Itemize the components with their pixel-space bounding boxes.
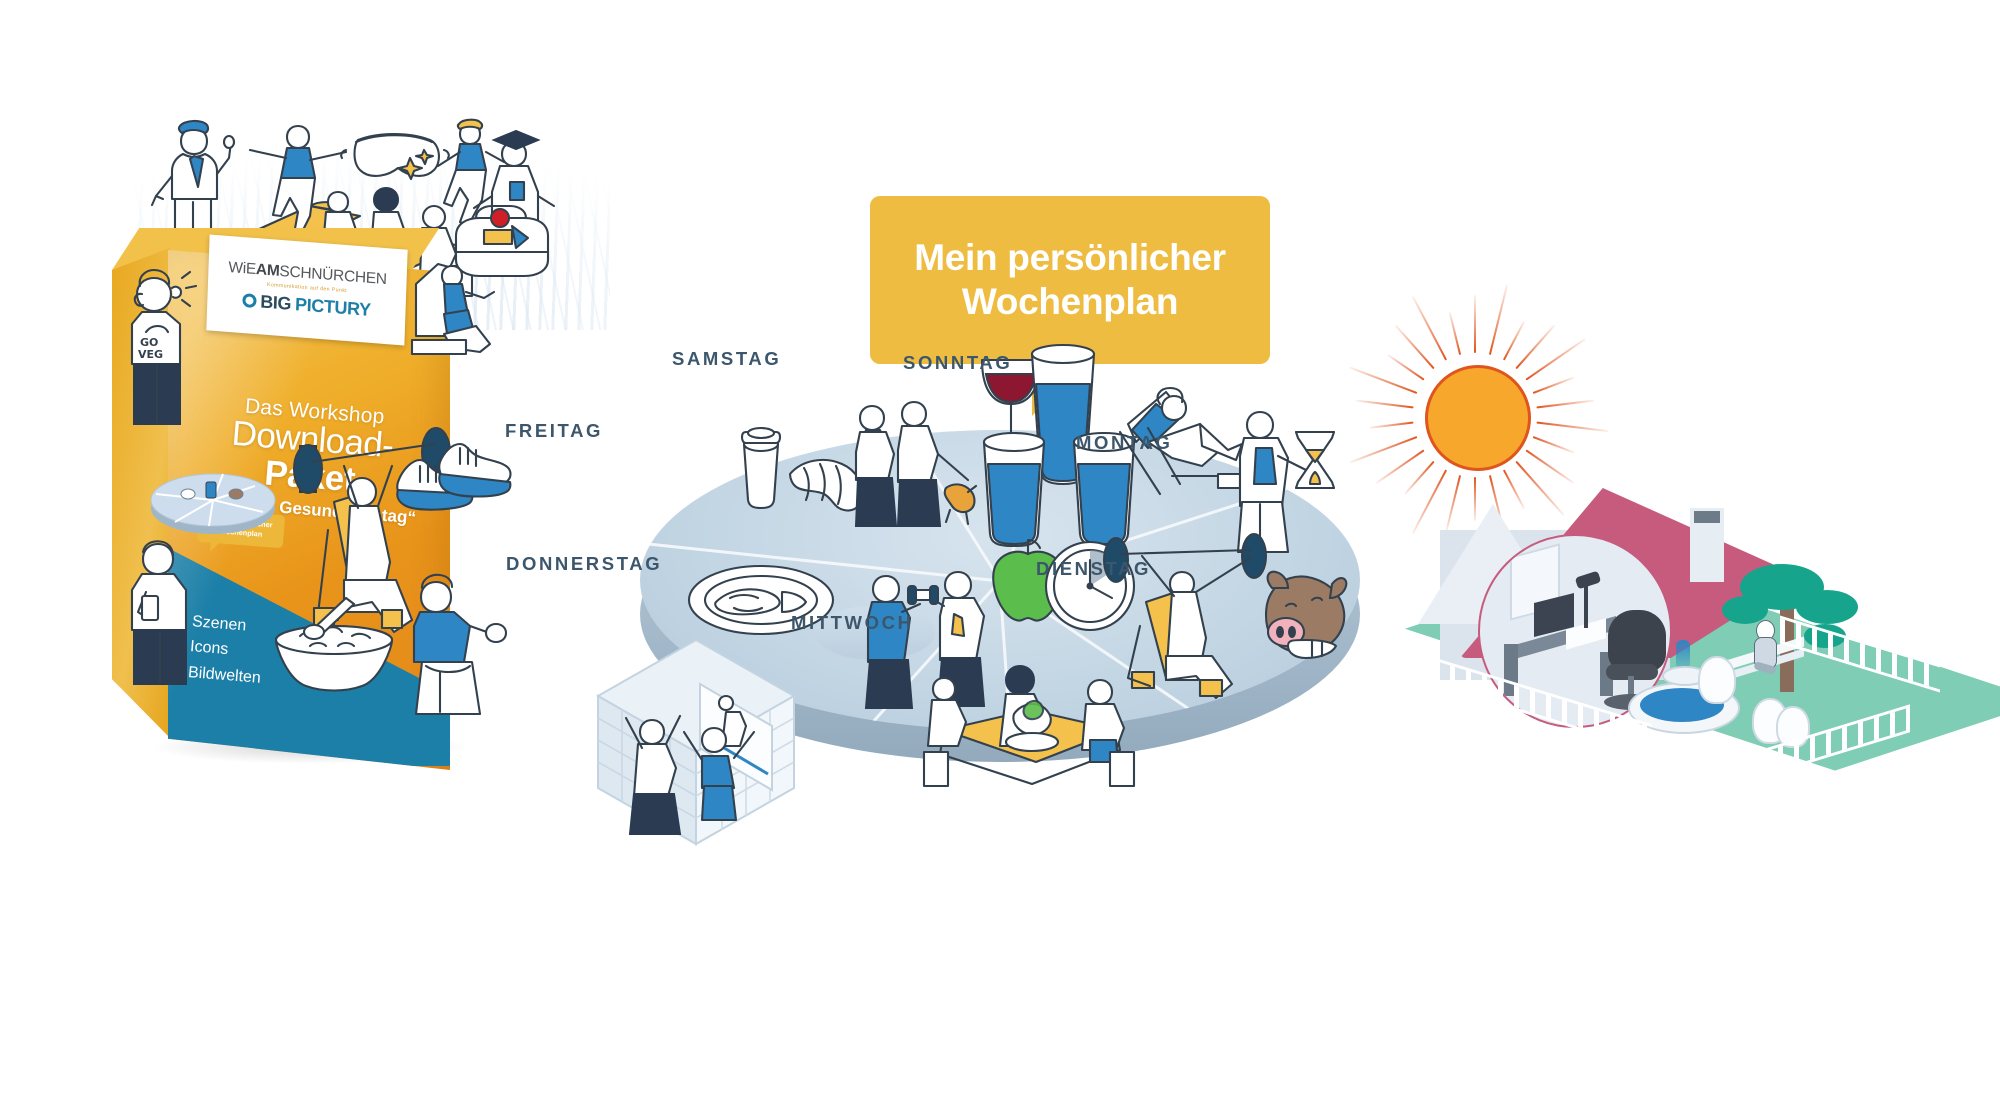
grocery-person-icon — [396, 562, 526, 722]
bush-icon — [1698, 656, 1736, 704]
svg-text:VEG: VEG — [138, 348, 163, 361]
cereal-bowl-icon — [266, 596, 406, 696]
family-dinner-table-icon — [920, 648, 1140, 798]
phone-person-icon — [116, 530, 206, 690]
desk-lamp-arm — [1584, 582, 1588, 628]
canvas: WiEAMSCHNÜRCHEN Kommunikation auf den Pu… — [0, 0, 2000, 1105]
office-stretching-icon — [592, 588, 822, 818]
piggy-head-icon — [1252, 570, 1362, 670]
day-label-sonntag: SONNTAG — [903, 352, 1012, 374]
office-chair-back — [1608, 610, 1666, 672]
day-label-mittwoch: MITTWOCH — [791, 612, 914, 634]
speech-line-1: Mein persönlicher — [914, 236, 1226, 280]
tree-crown — [1796, 590, 1858, 624]
sneakers-icon — [390, 440, 510, 520]
product-box-illustration: WiEAMSCHNÜRCHEN Kommunikation auf den Pu… — [90, 100, 650, 900]
home-office-house-illustration — [1400, 500, 1960, 800]
person-sitting-on-bench — [1752, 620, 1776, 676]
day-label-dienstag: DIENSTAG — [1036, 558, 1151, 580]
day-label-montag: MONTAG — [1076, 432, 1172, 454]
brand-label-card: WiEAMSCHNÜRCHEN Kommunikation auf den Pu… — [206, 235, 407, 346]
bigpictury-logo-icon — [242, 293, 256, 308]
chef-hat-person-icon: GO VEG — [120, 250, 206, 440]
sun-disc — [1425, 365, 1531, 471]
speech-line-2: Wochenplan — [914, 280, 1226, 324]
chimney-cap — [1694, 511, 1720, 523]
day-label-donnerstag: DONNERSTAG — [506, 553, 662, 575]
brand-bigpictury: BIG PICTURY — [242, 290, 371, 321]
chimney — [1690, 508, 1724, 582]
weekly-plan-disc — [640, 430, 1360, 790]
desk-lamp-shade — [1575, 571, 1602, 590]
person-in-chair-icon — [392, 248, 502, 378]
day-label-freitag: FREITAG — [505, 420, 603, 442]
day-label-samstag: SAMSTAG — [672, 348, 781, 370]
